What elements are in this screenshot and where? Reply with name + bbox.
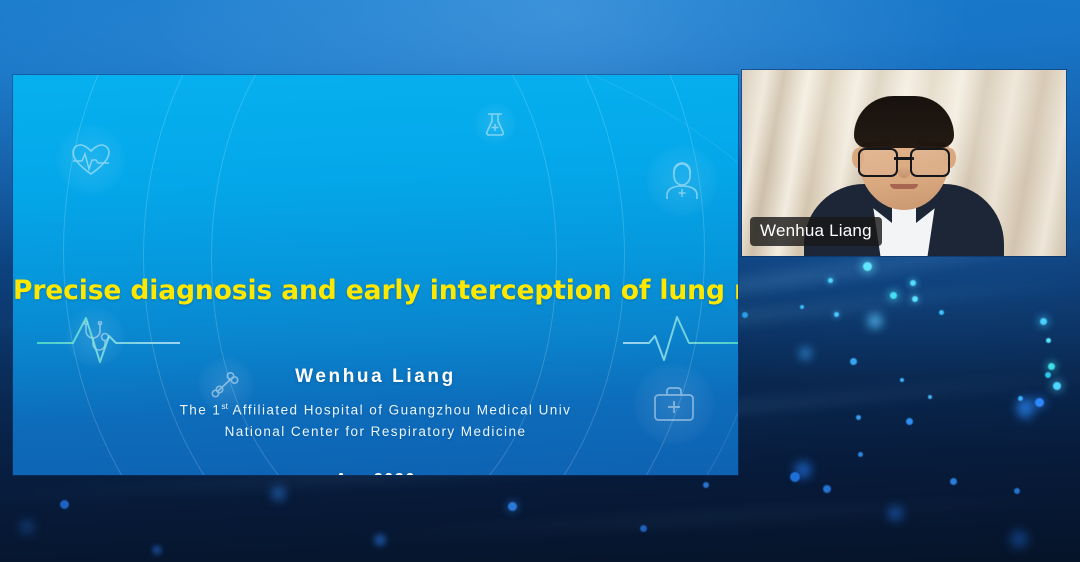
doctor-icon xyxy=(646,145,718,217)
nose xyxy=(898,166,910,178)
slide-author: Wenhua Liang xyxy=(13,366,738,388)
hair xyxy=(854,96,954,148)
webcam-tile[interactable]: Wenhua Liang xyxy=(742,70,1066,256)
slide-date: Apr 2026 xyxy=(13,471,738,475)
ecg-line-left-icon xyxy=(35,313,185,365)
slide-affiliation: The 1st Affiliated Hospital of Guangzhou… xyxy=(13,396,738,442)
slide-title: Precise diagnosis and early interception… xyxy=(13,275,738,306)
presentation-slide[interactable]: Precise diagnosis and early interception… xyxy=(13,75,738,475)
heart-pulse-icon xyxy=(56,125,126,195)
lens-right xyxy=(910,148,950,177)
flask-icon xyxy=(474,103,516,145)
video-conference-screen: Precise diagnosis and early interception… xyxy=(0,0,1080,562)
affiliation-prefix: The 1 xyxy=(180,403,222,418)
participant-name-tag: Wenhua Liang xyxy=(750,217,882,246)
mouth xyxy=(890,184,918,189)
affiliation-line-1: The 1st Affiliated Hospital of Guangzhou… xyxy=(13,396,738,421)
affiliation-line-2: National Center for Respiratory Medicine xyxy=(13,421,738,442)
lens-left xyxy=(858,148,898,177)
affiliation-rest: Affiliated Hospital of Guangzhou Medical… xyxy=(228,403,571,418)
ecg-line-right-icon xyxy=(621,313,738,365)
